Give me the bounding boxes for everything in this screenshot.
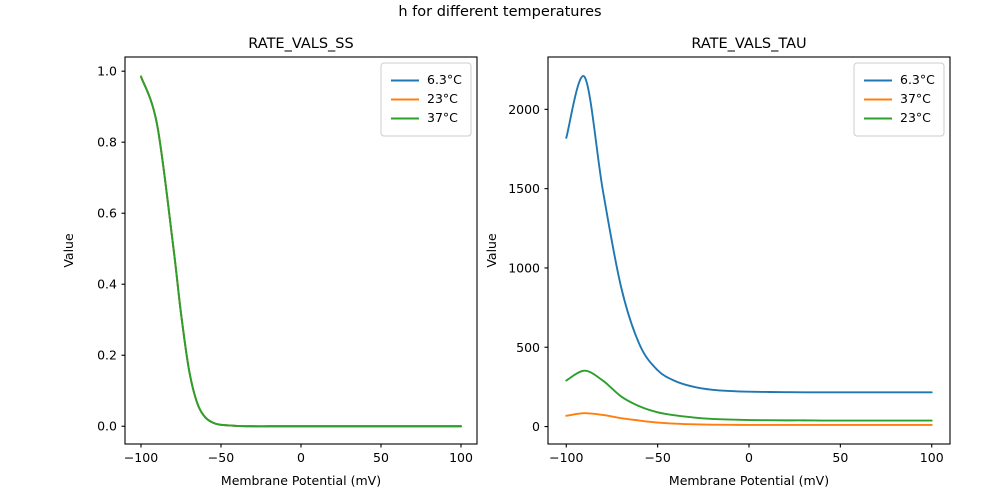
subplot-title: RATE_VALS_SS [248,36,353,52]
legend-label-2: 23°C [900,110,931,125]
y-tick-label: 0.2 [97,348,117,363]
legend-label-1: 37°C [900,91,931,106]
y-tick-label: 0.0 [97,419,117,434]
legend-label-2: 37°C [427,110,458,125]
x-tick-label: −100 [549,450,583,465]
y-tick-label: 500 [516,340,540,355]
x-axis-label: Membrane Potential (mV) [221,473,381,488]
y-axis-label: Value [484,233,499,268]
x-tick-label: 0 [745,450,753,465]
x-tick-label: 100 [920,450,944,465]
y-tick-label: 1000 [508,260,540,275]
y-tick-label: 1.0 [97,64,117,79]
y-tick-label: 0.6 [97,206,117,221]
subplot-left: RATE_VALS_SS−100−500501000.00.20.40.60.8… [61,36,477,488]
figure-suptitle: h for different temperatures [0,4,1000,20]
matplotlib-figure: h for different temperatures RATE_VALS_S… [0,0,1000,500]
series-line-2 [566,371,931,421]
x-tick-label: 100 [449,450,473,465]
x-axis-label: Membrane Potential (mV) [669,473,829,488]
x-tick-label: 50 [373,450,389,465]
legend[interactable]: 6.3°C23°C37°C [381,63,471,136]
y-tick-label: 0 [532,419,540,434]
x-tick-label: −50 [208,450,234,465]
y-tick-label: 2000 [508,102,540,117]
y-axis-label: Value [61,233,76,268]
x-tick-label: 0 [297,450,305,465]
x-tick-label: 50 [832,450,848,465]
y-tick-label: 0.8 [97,135,117,150]
subplot-title: RATE_VALS_TAU [691,36,806,52]
series-line-1 [566,413,931,425]
y-tick-label: 1500 [508,181,540,196]
subplot-right: RATE_VALS_TAU−100−5005010005001000150020… [484,36,950,488]
legend[interactable]: 6.3°C37°C23°C [854,63,944,136]
x-tick-label: −50 [644,450,670,465]
legend-label-1: 23°C [427,91,458,106]
plot-canvas: RATE_VALS_SS−100−500501000.00.20.40.60.8… [0,0,1000,500]
x-tick-label: −100 [124,450,158,465]
legend-label-0: 6.3°C [427,72,462,87]
y-tick-label: 0.4 [97,277,117,292]
legend-label-0: 6.3°C [900,72,935,87]
